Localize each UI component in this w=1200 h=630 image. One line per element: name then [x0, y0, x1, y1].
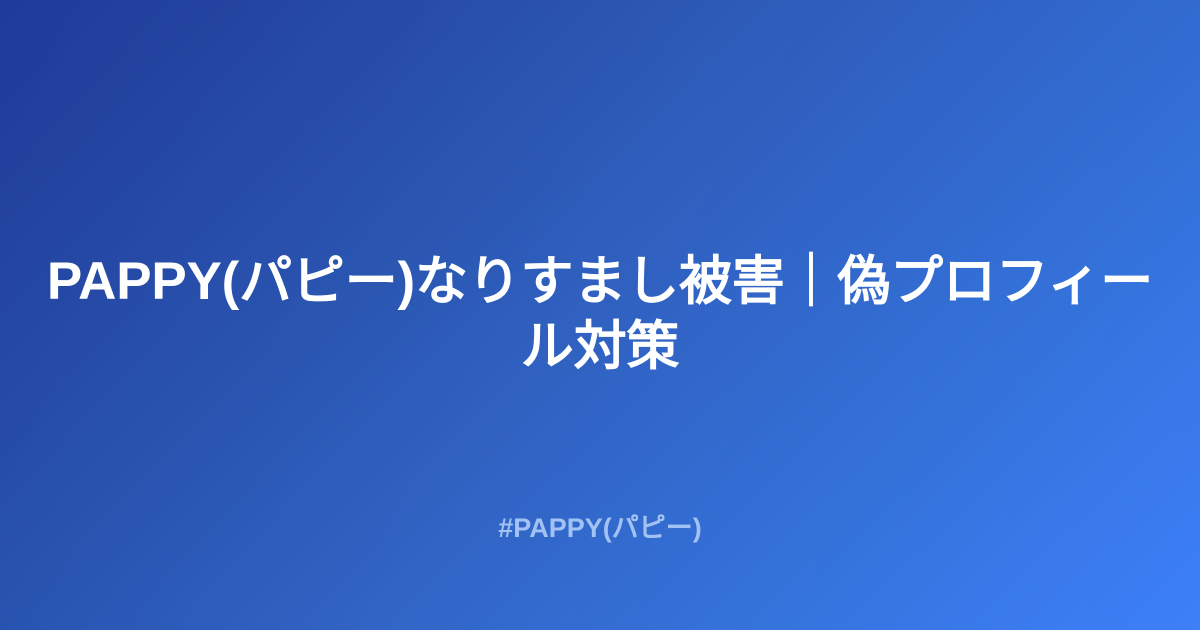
card-content: PAPPY(パピー)なりすまし被害｜偽プロフィール対策: [0, 250, 1200, 379]
hashtag-label: #PAPPY(パピー): [498, 514, 702, 544]
hashtag-row: #PAPPY(パピー): [0, 514, 1200, 544]
og-share-card: PAPPY(パピー)なりすまし被害｜偽プロフィール対策 #PAPPY(パピー): [0, 0, 1200, 630]
page-title: PAPPY(パピー)なりすまし被害｜偽プロフィール対策: [46, 250, 1154, 379]
